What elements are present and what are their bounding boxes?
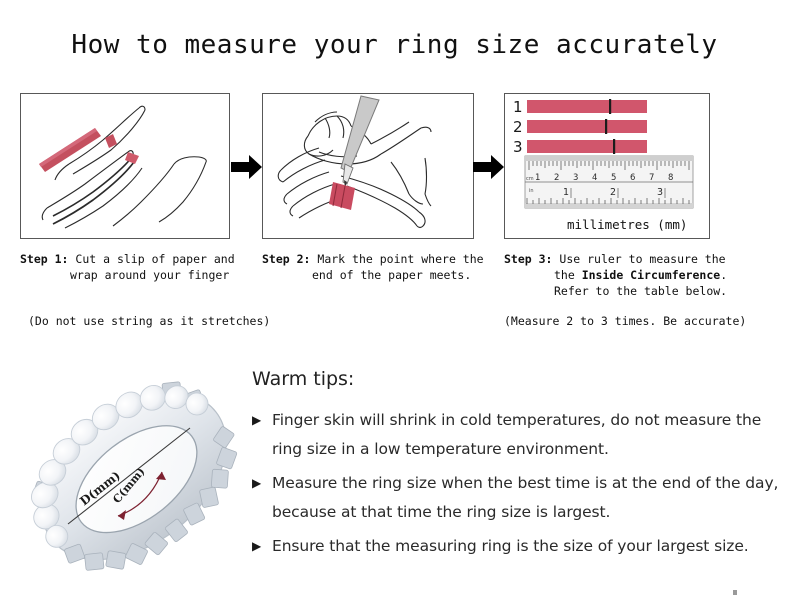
- svg-text:3: 3: [573, 173, 578, 183]
- triangle-bullet-icon: ▶: [252, 469, 272, 498]
- warm-tips-heading: Warm tips:: [252, 368, 780, 390]
- warm-tip-text: Measure the ring size when the best time…: [272, 469, 780, 527]
- step-3-line2: the Inside Circumference.: [504, 267, 779, 283]
- ruler-cm-unit-label: cm: [526, 176, 534, 182]
- step-3-illustration-panel: 1 2 3: [504, 93, 710, 239]
- step-3-label: Step 3:: [504, 252, 552, 266]
- hand-with-paper-slip-illustration: [21, 94, 228, 237]
- svg-text:1: 1: [535, 173, 540, 183]
- step-3-line2-suffix: .: [720, 268, 727, 282]
- svg-text:6: 6: [630, 173, 635, 183]
- paper-strip-1: [527, 100, 647, 113]
- paper-strip-2: [527, 120, 647, 133]
- strip-number-2: 2: [513, 118, 523, 136]
- strip-3-mark: [613, 139, 615, 154]
- step-3-line1: Use ruler to measure the: [559, 252, 725, 266]
- step-3-caption: Step 3: Use ruler to measure the the Ins…: [504, 251, 779, 299]
- warm-tip-item: ▶ Finger skin will shrink in cold temper…: [252, 406, 780, 464]
- step-2-illustration-panel: [262, 93, 474, 239]
- svg-text:3: 3: [657, 187, 663, 198]
- step-2-line1: Mark the point where the: [317, 252, 483, 266]
- svg-text:2: 2: [554, 173, 559, 183]
- svg-text:1: 1: [563, 187, 569, 198]
- ruler-icon: 123 456 78 cm 123 in: [525, 156, 693, 208]
- svg-text:8: 8: [668, 173, 673, 183]
- hand-marking-paper-illustration: [263, 94, 472, 237]
- strip-1-mark: [609, 99, 611, 114]
- ruler-caption: millimetres (mm): [567, 217, 687, 232]
- triangle-bullet-icon: ▶: [252, 532, 272, 561]
- svg-text:5: 5: [611, 173, 616, 183]
- ring-measurement-figure: D(mm) C(mm): [22, 358, 254, 594]
- warm-tip-item: ▶ Measure the ring size when the best ti…: [252, 469, 780, 527]
- page-title: How to measure your ring size accurately: [0, 30, 789, 60]
- step-1-caption: Step 1: Cut a slip of paper and wrap aro…: [20, 251, 256, 283]
- paper-strip-on-finger: [329, 182, 355, 210]
- step-1-illustration-panel: [20, 93, 230, 239]
- step-1-line1: Cut a slip of paper and: [75, 252, 234, 266]
- paper-slip-strip: [39, 128, 101, 172]
- step-2-to-3-arrow: [473, 152, 505, 182]
- warm-tip-item: ▶ Ensure that the measuring ring is the …: [252, 532, 780, 561]
- step-2-label: Step 2:: [262, 252, 310, 266]
- step-3-line2-prefix: the: [554, 268, 582, 282]
- right-arrow-icon: [473, 152, 505, 182]
- svg-text:2: 2: [610, 187, 616, 198]
- strip-2-mark: [605, 119, 607, 134]
- page-corner-artifact: [733, 590, 737, 595]
- step-3-line3: Refer to the table below.: [504, 283, 779, 299]
- strip-number-3: 3: [513, 138, 523, 156]
- pen-icon: [341, 96, 379, 188]
- step-1-label: Step 1:: [20, 252, 68, 266]
- right-arrow-icon: [231, 152, 263, 182]
- step-2-caption: Step 2: Mark the point where the end of …: [262, 251, 496, 283]
- step-2-line2: end of the paper meets.: [262, 267, 496, 283]
- paper-wrap-marks: [105, 134, 139, 164]
- ruler-inch-unit-label: in: [529, 188, 534, 194]
- step-1-note: (Do not use string as it stretches): [28, 314, 270, 328]
- warm-tip-text: Ensure that the measuring ring is the si…: [272, 532, 749, 561]
- step-3-note: (Measure 2 to 3 times. Be accurate): [504, 314, 746, 328]
- svg-text:4: 4: [592, 173, 597, 183]
- inside-circumference-emphasis: Inside Circumference: [582, 268, 720, 282]
- warm-tips-block: Warm tips: ▶ Finger skin will shrink in …: [252, 368, 780, 566]
- paper-strips-with-ruler-illustration: 1 2 3: [505, 94, 708, 237]
- step-1-line2: wrap around your finger: [20, 267, 256, 283]
- strip-number-1: 1: [513, 98, 523, 116]
- step-1-to-2-arrow: [231, 152, 263, 182]
- paper-strip-3: [527, 140, 647, 153]
- ring-photo-with-dimension-labels: D(mm) C(mm): [22, 358, 254, 594]
- triangle-bullet-icon: ▶: [252, 406, 272, 435]
- warm-tip-text: Finger skin will shrink in cold temperat…: [272, 406, 780, 464]
- svg-text:7: 7: [649, 173, 654, 183]
